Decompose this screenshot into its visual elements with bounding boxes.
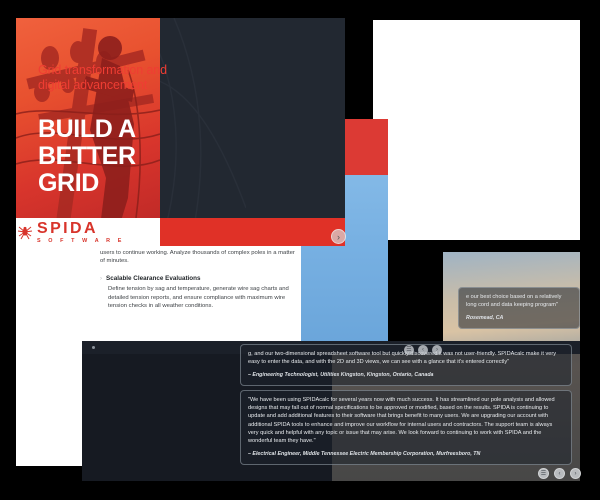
hero-next-button[interactable]: ›	[331, 229, 346, 244]
hero-eyebrow: Grid transformation and digital advancem…	[38, 63, 190, 93]
spida-subtitle: S O F T W A R E	[37, 239, 124, 244]
mini-next-icon[interactable]: ›	[432, 345, 442, 355]
chevron-right-icon: ›	[100, 275, 102, 283]
spida-wordmark: SPIDA S O F T W A R E	[37, 221, 124, 244]
spider-icon	[17, 224, 33, 240]
spida-logo: SPIDA S O F T W A R E	[17, 221, 124, 244]
next-button[interactable]: ›	[570, 468, 581, 479]
testimonial-attribution: – Engineering Technologist, Utilities Ki…	[248, 371, 564, 379]
hero-title: BUILD A BETTER GRID	[38, 116, 203, 197]
blank-white-panel	[373, 20, 580, 240]
testimonial-attribution: – Electrical Engineer, Middle Tennessee …	[248, 450, 564, 458]
hero-footer-redbar	[160, 218, 345, 246]
frame-mini-controls: ☰ ‹ ›	[404, 345, 442, 355]
prev-button[interactable]: ‹	[554, 468, 565, 479]
features-heading: Scalable Clearance Evaluations	[106, 275, 201, 283]
carousel-controls: ☰ ‹ ›	[538, 468, 581, 479]
testimonial-attribution: Rosemead, CA	[466, 314, 572, 322]
testimonial-text: "We have been using SPIDAcalc for severa…	[248, 396, 564, 445]
features-intro-paragraph: users to continue working. Analyze thous…	[100, 249, 296, 266]
testimonial-text: e our best choice based on a relatively …	[466, 293, 572, 309]
testimonial-card: e our best choice based on a relatively …	[458, 287, 580, 329]
features-text-block: users to continue working. Analyze thous…	[100, 249, 296, 310]
mini-prev-icon[interactable]: ‹	[418, 345, 428, 355]
testimonial-card: "We have been using SPIDAcalc for severa…	[240, 390, 572, 465]
screenshot-canvas: users to continue working. Analyze thous…	[0, 0, 600, 500]
features-heading-row: › Scalable Clearance Evaluations	[100, 275, 296, 283]
hero-brochure-card: Grid transformation and digital advancem…	[16, 18, 345, 246]
features-body-paragraph: Define tension by sag and temperature, g…	[100, 285, 296, 310]
menu-icon[interactable]: ☰	[538, 468, 549, 479]
frame-menu-dot-icon[interactable]	[92, 346, 95, 349]
mini-menu-icon[interactable]: ☰	[404, 345, 414, 355]
spida-name: SPIDA	[37, 221, 124, 237]
